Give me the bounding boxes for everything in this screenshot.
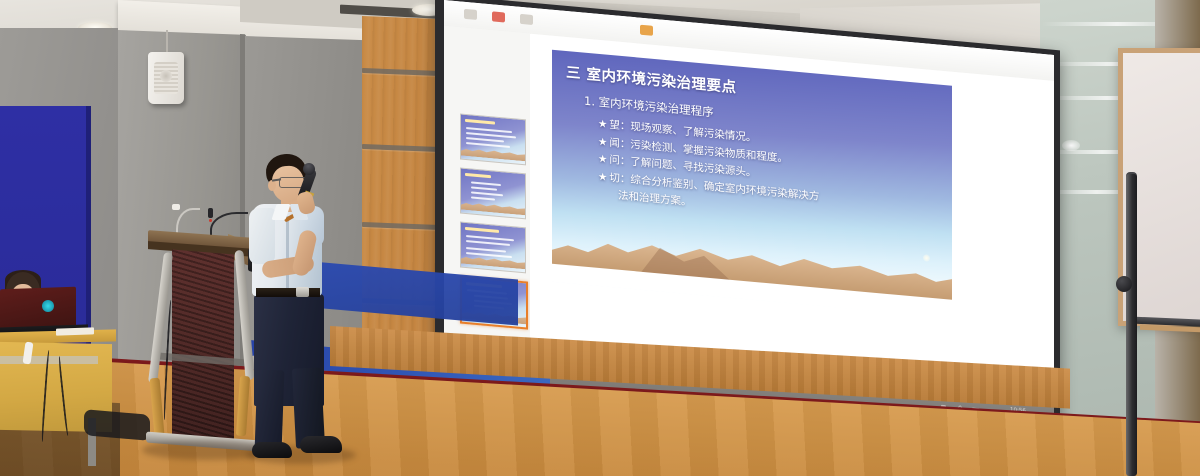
gooseneck-mic-white-icon [172,204,180,210]
slide-editing-stage[interactable]: 三 室内环境污染治理要点 1. 室内环境污染治理程序 ★望：现场观察、了解污染情… [530,34,1054,391]
ribbon-item[interactable] [464,9,477,20]
thumbnail-mountains [461,201,525,216]
thumbnail-line [466,252,512,258]
speaker-cone [160,70,172,82]
current-slide[interactable]: 三 室内环境污染治理要点 1. 室内环境污染治理程序 ★望：现场观察、了解污染情… [552,50,952,318]
thumbnail-mountains [461,147,525,162]
thumbnail-line [471,186,497,190]
ribbon-item[interactable] [640,25,653,36]
thumbnail-line [471,191,503,196]
thumbnail-title-bar [465,119,495,125]
slide-thumbnail-3[interactable] [460,221,526,273]
presenter-shirt-placket [286,216,289,290]
thumbnail-line [466,142,510,148]
star-bullet-icon: ★ [598,135,607,148]
glass-light-spot [1062,140,1080,151]
presenter-leg-left [255,370,285,451]
star-bullet-icon: ★ [598,118,607,131]
mic-led-indicator [209,219,212,222]
slide-bullet-list: ★望：现场观察、了解污染情况。 ★闻：污染检测、掌握污染物质和程度。 ★问：了解… [598,116,942,235]
star-bullet-icon: ★ [598,153,607,166]
ribbon-item[interactable] [492,11,505,22]
slide-thumbnail-1[interactable] [460,113,526,165]
thumbnail-title-bar [465,173,491,178]
slide-thumbnail-2[interactable] [460,167,526,219]
slide-title: 三 室内环境污染治理要点 [566,61,737,97]
presenter-shoe-right [300,436,342,453]
thumbnail-line [471,196,495,200]
laptop-logo-icon [42,300,54,312]
presenter-ear [268,180,276,191]
podium-front-panel [172,250,234,441]
flipchart-support-pole [1126,174,1137,476]
presenter-belt-buckle [296,287,309,297]
star-bullet-icon: ★ [598,170,607,183]
thumbnail-mountains [461,255,525,270]
presenter-belt [256,288,320,297]
thumbnail-line [471,181,501,186]
presenter-sleeve-left [249,208,275,264]
conference-room-photo: 三 室内环境污染治理要点 1. 室内环境污染治理程序 ★望：现场观察、了解污染情… [0,0,1200,476]
gooseneck-mic-black-icon [208,208,213,218]
desk-paper [56,327,94,335]
thumbnail-title-bar [465,227,499,233]
thumbnail-line [466,240,510,246]
ribbon-item[interactable] [520,14,533,25]
flipchart-adjust-knob[interactable] [1116,276,1132,292]
slide-sun-graphic [923,254,930,262]
presenter-shoe-left [252,442,292,458]
speaker-wire [166,30,168,54]
